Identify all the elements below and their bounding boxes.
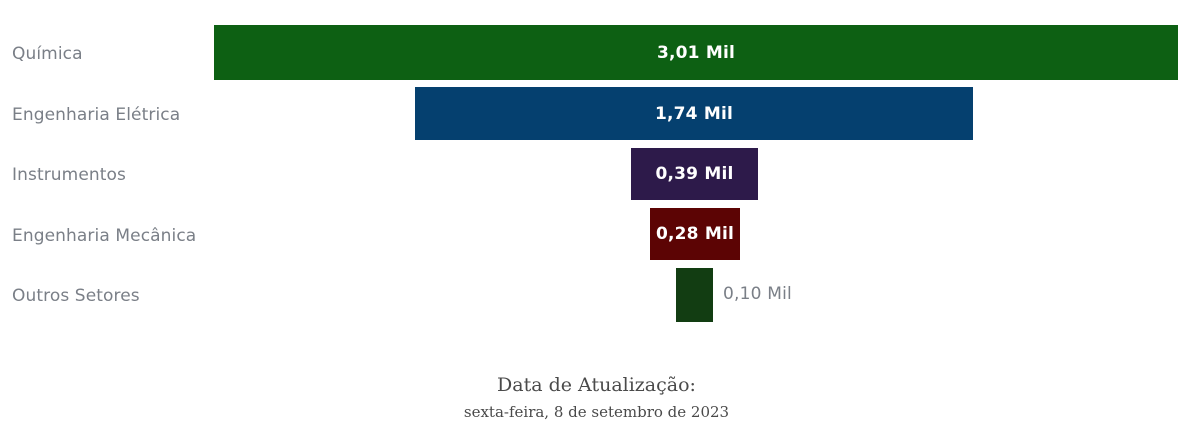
funnel-bar[interactable] [676,268,713,322]
update-date-value: sexta-feira, 8 de setembro de 2023 [0,400,1193,424]
update-date-footer: Data de Atualização: sexta-feira, 8 de s… [0,372,1193,424]
funnel-bar[interactable]: 0,28 Mil [650,208,740,260]
funnel-category-label: Instrumentos [12,165,126,185]
funnel-bar-value: 0,10 Mil [723,284,792,304]
funnel-row[interactable]: Outros Setores 0,10 Mil [0,0,1193,110]
funnel-bar[interactable]: 0,39 Mil [631,148,758,200]
funnel-chart: Química 3,01 Mil Engenharia Elétrica 1,7… [0,0,1193,443]
funnel-bar-value: 0,28 Mil [656,224,734,244]
funnel-category-label: Engenharia Mecânica [12,226,196,246]
funnel-category-label: Outros Setores [12,286,140,306]
funnel-bar-value: 0,39 Mil [655,164,733,184]
funnel-plot-area: Química 3,01 Mil Engenharia Elétrica 1,7… [0,0,1193,345]
update-date-title: Data de Atualização: [0,372,1193,398]
